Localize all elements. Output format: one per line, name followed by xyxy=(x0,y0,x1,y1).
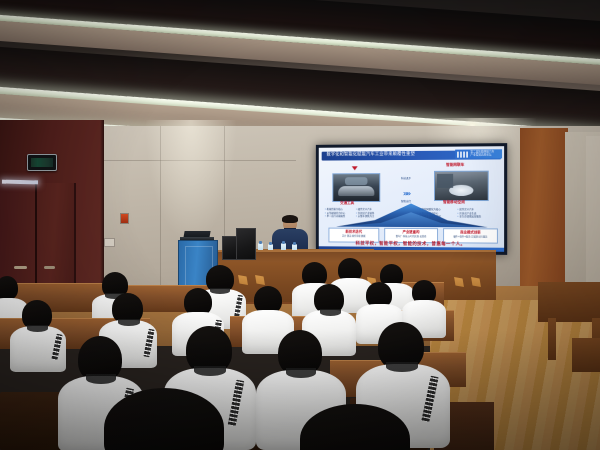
presentation-laptop[interactable] xyxy=(180,231,214,241)
lecture-room-photo: 数字化和智能化赋能汽车工业带来颠覆性重塑 第二届智能网联汽车 产业发展高峰论坛 … xyxy=(0,0,600,450)
pillar-box: 新技术迭代 芯片·算法·操作系统·数据 xyxy=(328,228,379,243)
right-photo-label: 智能网联车 xyxy=(446,164,464,168)
right-wood-pillar xyxy=(520,128,568,288)
double-chevron-right-icon: »» xyxy=(403,190,409,198)
light-switch-plate[interactable] xyxy=(104,238,115,247)
door-handle-icon[interactable] xyxy=(44,266,55,269)
student-collar xyxy=(210,288,230,294)
audio-speaker-box xyxy=(236,228,256,260)
right-bullet-list-2: 软件定义汽车 开放式产业生态 全生命周期运营服务 xyxy=(457,208,481,219)
student-collar xyxy=(286,368,316,378)
bullet-item: 以整车销售为主 xyxy=(356,215,375,219)
bullet-item: 全生命周期运营服务 xyxy=(457,216,481,220)
right-wall-panel-b xyxy=(586,136,600,296)
conference-logo: 第二届智能网联汽车 产业发展高峰论坛 xyxy=(455,149,502,158)
left-photo-label: 交通工具 xyxy=(340,202,354,206)
student-collar xyxy=(194,366,226,376)
student-head xyxy=(0,276,18,300)
door-handle-icon[interactable] xyxy=(14,266,27,269)
audio-speaker-box xyxy=(222,236,237,260)
car-interior-photo xyxy=(332,173,380,202)
bullet-item: 单一出行功能属性 xyxy=(325,215,346,219)
left-bullet-list: 机械性能为核心 以驾驶操控为中心 单一出行功能属性 xyxy=(325,208,346,219)
student-collar xyxy=(86,374,116,384)
clock-digits xyxy=(31,158,53,167)
smart-cockpit-photo xyxy=(434,171,489,201)
presentation-slide: 数字化和智能化赋能汽车工业带来颠覆性重塑 第二届智能网联汽车 产业发展高峰论坛 … xyxy=(319,146,504,252)
pillar-subtitle: 整车厂·科技公司·供应商·运营商 xyxy=(385,236,437,239)
logo-text-line2: 产业发展高峰论坛 xyxy=(470,154,494,157)
pillar-subtitle: 芯片·算法·操作系统·数据 xyxy=(329,236,378,239)
digital-wall-clock xyxy=(27,154,57,171)
rostrum-diamond-inlay xyxy=(236,275,267,285)
side-desk-2 xyxy=(572,338,600,372)
student-collar xyxy=(386,362,418,372)
pillar-subtitle: 硬件+软件+服务·订阅制·出行服务 xyxy=(444,236,497,239)
student-collar xyxy=(320,309,341,316)
student-collar xyxy=(118,319,140,326)
wall-fluorescent-lamp xyxy=(2,180,38,185)
wall-panel-seam xyxy=(160,126,161,296)
transition-arrow-group: 科技进步 »» 智能出行 xyxy=(389,177,423,204)
presenter-hair xyxy=(282,215,298,223)
arrow-label-bottom: 智能出行 xyxy=(389,200,423,204)
left-bullet-list-2: 硬件定义汽车 封闭式产业链条 以整车销售为主 xyxy=(356,208,375,219)
projection-screen: 数字化和智能化赋能汽车工业带来颠覆性重塑 第二届智能网联汽车 产业发展高峰论坛 … xyxy=(316,143,507,255)
fire-alarm-call-point[interactable] xyxy=(120,213,129,224)
wall-panel-seam xyxy=(96,160,296,161)
logo-mark-icon xyxy=(457,151,468,157)
arrow-label-top: 科技进步 xyxy=(389,177,423,181)
student-collar xyxy=(27,325,48,332)
door-seam xyxy=(35,183,37,295)
laptop-keyboard xyxy=(180,237,214,240)
chair-back xyxy=(0,392,64,450)
slide-title: 数字化和智能化赋能汽车工业带来颠覆性重塑 xyxy=(322,153,415,158)
rostrum-diamond-inlay xyxy=(452,277,483,287)
side-desk-leg xyxy=(548,318,556,360)
left-caret-icon xyxy=(352,166,358,170)
right-section-label: 智能移动空间 xyxy=(443,201,465,205)
side-desk xyxy=(538,282,600,322)
